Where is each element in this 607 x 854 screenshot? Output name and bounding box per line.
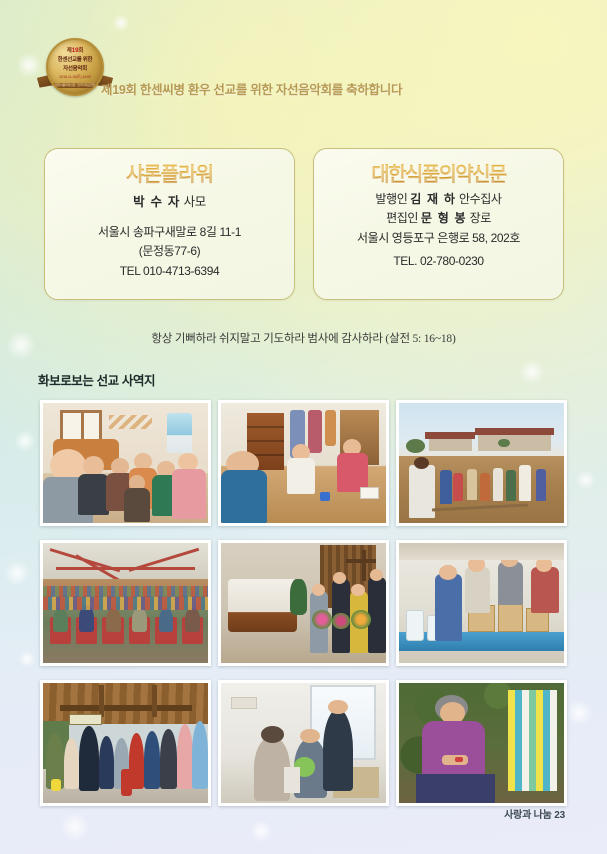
photo-image-flower-ceremony	[221, 543, 386, 663]
event-seal-emblem: 제19회 한센선교를 위한 자선음악회 2018.11.10(토) 14:00 …	[46, 38, 104, 96]
sponsor-box-sharon-flower: 샤론플라워 박 수 자 사모 서울시 송파구새말로 8길 11-1 (문정동77…	[44, 148, 295, 300]
photo-image-village-worksite	[399, 403, 564, 523]
photo-item[interactable]	[396, 540, 567, 666]
sponsor-name: 샤론플라워	[45, 163, 294, 188]
photo-image-walkway-queue	[43, 683, 208, 803]
sponsor-name: 대한식품의약신문	[314, 163, 563, 188]
sponsor-address-line-2: (문정동77-6)	[45, 242, 294, 261]
sponsor-publisher-line: 발행인 김 재 하 안수집사	[314, 190, 563, 209]
editor-label: 편집인	[386, 211, 418, 225]
sponsor-person-role: 사모	[184, 195, 206, 209]
photo-image-seniors-group	[43, 403, 208, 523]
photo-item[interactable]	[40, 680, 211, 806]
photo-image-home-visit	[221, 403, 386, 523]
seal-disc: 제19회 한센선교를 위한 자선음악회 2018.11.10(토) 14:00 …	[46, 38, 104, 96]
seal-line-3: 자선음악회	[63, 64, 87, 72]
photo-image-church-congregation	[43, 543, 208, 663]
page-footer: 사랑과 나눔 23	[504, 806, 565, 821]
section-heading: 화보로보는 선교 사역지	[38, 370, 155, 389]
footer-publication-name: 사랑과 나눔	[504, 810, 552, 821]
photo-item[interactable]	[218, 400, 389, 526]
photo-item[interactable]	[396, 400, 567, 526]
publisher-suffix: 안수집사	[459, 192, 502, 206]
sponsor-boxes: 샤론플라워 박 수 자 사모 서울시 송파구새말로 8길 11-1 (문정동77…	[44, 148, 564, 300]
sponsor-person-name: 박 수 자	[133, 195, 180, 209]
seal-line-4: 2018.11.10(토) 14:00	[59, 74, 91, 80]
photo-item[interactable]	[218, 680, 389, 806]
magazine-page: 제19회 한센선교를 위한 자선음악회 2018.11.10(토) 14:00 …	[0, 0, 607, 854]
photo-item[interactable]	[40, 540, 211, 666]
photo-image-hospital-visit	[221, 683, 386, 803]
header-title: 제19회 한센씨병 환우 선교를 위한 자선음악회를 축하합니다	[101, 79, 402, 98]
sponsor-phone: TEL 010-4713-6394	[45, 262, 294, 281]
sponsor-address-line-1: 서울시 영등포구 은행로 58, 202호	[314, 229, 563, 248]
sponsor-contact-lines: 발행인 김 재 하 안수집사 편집인 문 형 봉 장로 서울시 영등포구 은행로…	[314, 190, 563, 272]
sponsor-phone: TEL. 02-780-0230	[314, 252, 563, 271]
sponsor-box-daehan-news: 대한식품의약신문 발행인 김 재 하 안수집사 편집인 문 형 봉 장로 서울시…	[313, 148, 564, 300]
publisher-label: 발행인	[375, 192, 407, 206]
sponsor-editor-line: 편집인 문 형 봉 장로	[314, 209, 563, 228]
photo-image-elderly-woman	[399, 683, 564, 803]
editor-name: 문 형 봉	[421, 211, 467, 225]
sponsor-person: 박 수 자 사모	[45, 193, 294, 212]
page-header: 제19회 한센선교를 위한 자선음악회 2018.11.10(토) 14:00 …	[0, 0, 607, 118]
photo-item[interactable]	[396, 680, 567, 806]
footer-page-number: 23	[554, 810, 565, 821]
photo-item[interactable]	[40, 400, 211, 526]
photo-item[interactable]	[218, 540, 389, 666]
seal-line-1: 제19회	[67, 46, 84, 54]
photo-image-relief-distribution	[399, 543, 564, 663]
seal-line-2: 한센선교를 위한	[58, 55, 93, 63]
publisher-name: 김 재 하	[410, 192, 456, 206]
editor-suffix: 장로	[470, 211, 491, 225]
scripture-verse: 항상 기뻐하라 쉬지말고 기도하라 범사에 감사하라 (살전 5: 16~18)	[0, 330, 607, 346]
sponsor-contact-lines: 서울시 송파구새말로 8길 11-1 (문정동77-6) TEL 010-471…	[45, 223, 294, 281]
photo-gallery-grid	[40, 400, 567, 806]
seal-band-text: 대한식품의약신문 · 한국기독교연합	[46, 83, 104, 88]
sponsor-address-line-1: 서울시 송파구새말로 8길 11-1	[45, 223, 294, 242]
